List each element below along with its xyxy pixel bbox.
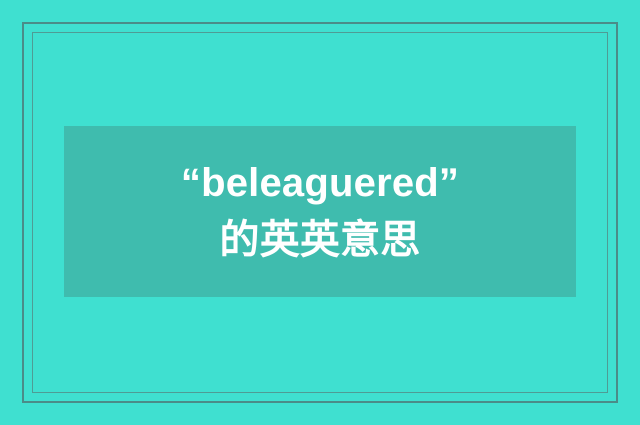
page-title: “beleaguered”的英英意思 xyxy=(170,155,470,269)
title-card-panel: “beleaguered”的英英意思 xyxy=(64,126,576,297)
image-canvas: “beleaguered”的英英意思 xyxy=(0,0,640,425)
